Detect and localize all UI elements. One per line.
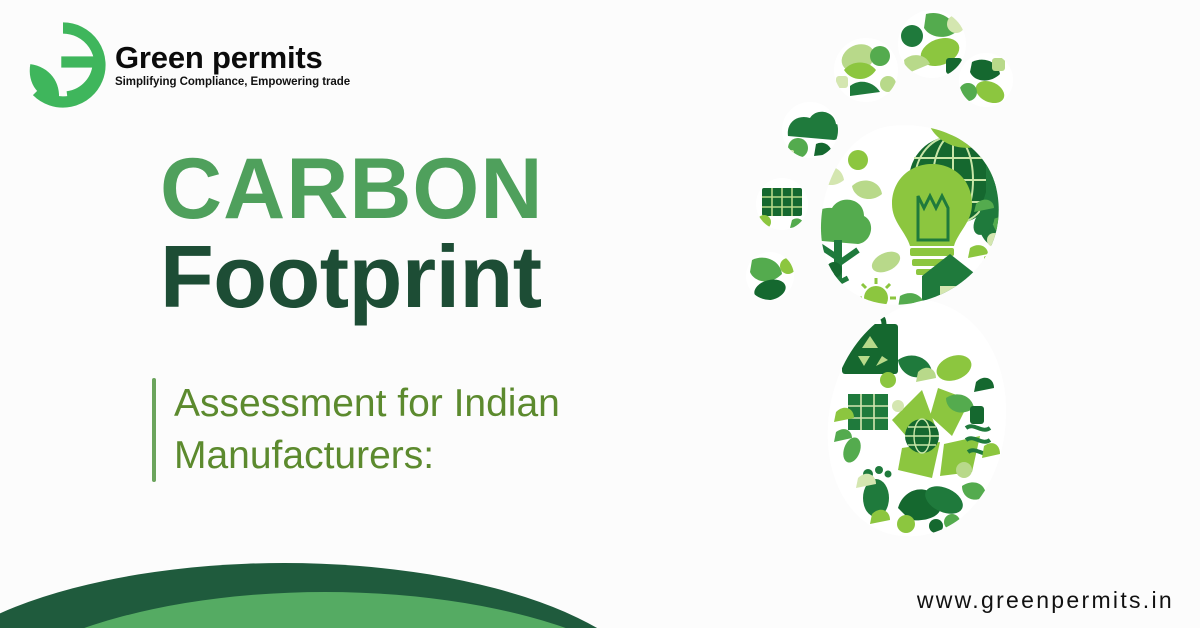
headline-block: CARBON Footprint	[160, 150, 760, 321]
toe-cluster-6	[744, 250, 798, 304]
flower-icon	[929, 519, 943, 533]
brand-text-block: Green permits Simplifying Compliance, Em…	[115, 40, 350, 89]
flower-icon	[892, 400, 904, 412]
toe-cluster-1	[832, 36, 902, 106]
footprint-artwork-icon	[740, 8, 1070, 588]
flower-icon	[987, 233, 1001, 247]
subtitle-block: Assessment for Indian Manufacturers:	[152, 378, 694, 482]
solar-panel-icon	[984, 256, 1018, 284]
toe-cluster-4	[780, 100, 842, 162]
toe-cluster-5	[754, 176, 812, 234]
decorative-ellipse-dark	[0, 563, 664, 628]
water-drop-icon	[826, 262, 842, 278]
globe-icon	[905, 419, 939, 453]
headline-line-footprint: Footprint	[160, 233, 760, 321]
banner-canvas: Green permits Simplifying Compliance, Em…	[0, 0, 1200, 628]
hand-icon	[978, 149, 1034, 248]
brand-logo[interactable]: Green permits Simplifying Compliance, Em…	[20, 22, 350, 108]
sun-icon	[880, 372, 896, 388]
footprint-heel-cluster	[810, 294, 1020, 544]
battery-icon	[970, 406, 984, 424]
fish-icon	[944, 514, 960, 530]
factory-icon	[848, 394, 888, 430]
eco-icons-footprint-illustration	[740, 8, 1070, 588]
brand-title: Green permits	[115, 42, 350, 74]
water-drop-icon	[956, 462, 972, 478]
subtitle-text: Assessment for Indian Manufacturers:	[174, 378, 694, 482]
brand-tagline: Simplifying Compliance, Empowering trade	[115, 76, 350, 90]
headline-line-carbon: CARBON	[160, 150, 760, 229]
flower-icon	[897, 515, 915, 533]
decorative-ellipse-light	[0, 592, 690, 628]
sun-icon	[856, 278, 896, 318]
green-permits-g-leaf-logo-icon	[20, 22, 106, 108]
toe-cluster-3	[956, 50, 1018, 112]
leaf-icon	[992, 217, 1024, 239]
battery-icon	[992, 294, 1010, 310]
subtitle-accent-rule	[152, 378, 156, 482]
flower-icon	[848, 150, 868, 170]
website-url[interactable]: www.greenpermits.in	[917, 587, 1174, 614]
